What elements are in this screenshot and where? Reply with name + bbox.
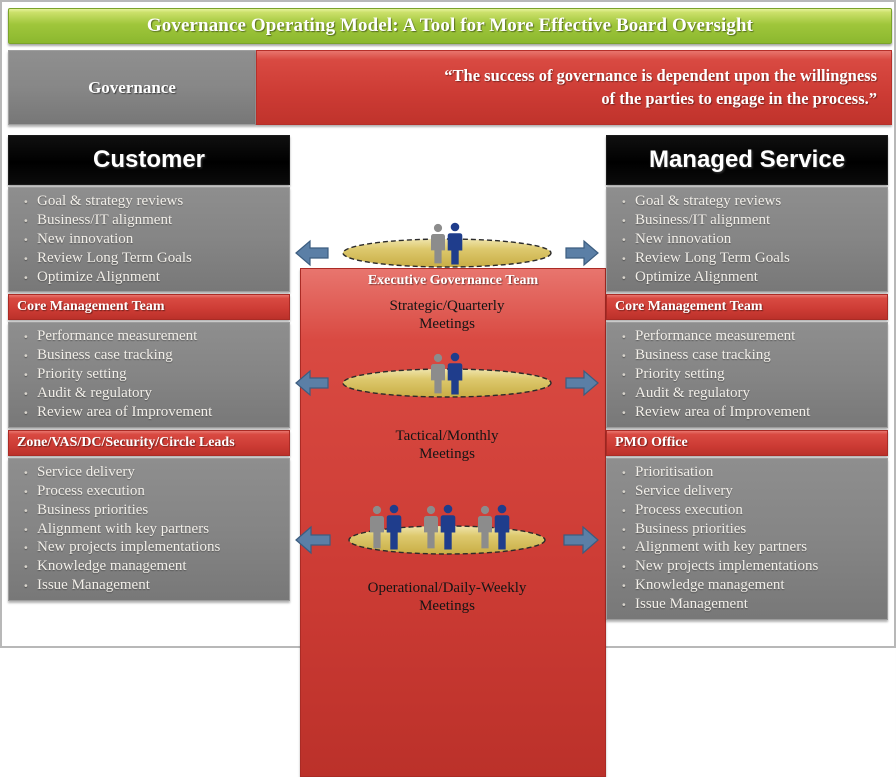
list-item: Knowledge management [613,576,881,595]
list-item: Performance measurement [613,327,881,346]
list-item: Business/IT alignment [613,211,881,230]
list-item: Goal & strategy reviews [613,192,881,211]
meeting-tactical-monthly: Tactical/Monthly Meetings [294,351,600,463]
meeting-operational-daily-weekly: Operational/Daily-Weekly Meetings [294,487,600,615]
list-item: Review Long Term Goals [613,249,881,268]
list-item: Review area of Improvement [15,403,283,422]
section-body-pmo-office: Prioritisation Service delivery Process … [606,458,888,620]
list-item: Business/IT alignment [15,211,283,230]
section-header-pmo-office[interactable]: PMO Office [606,430,888,456]
meeting-stage [294,221,600,296]
column-title-label: Customer [93,146,205,174]
meeting-diagram [294,351,600,421]
left-arrow-icon [296,527,330,553]
meeting-diagram [294,221,600,291]
list-item: Business priorities [613,520,881,539]
meeting-caption: Strategic/Quarterly Meetings [390,298,505,333]
list-item: Issue Management [613,595,881,614]
section-body-core-management-team-customer: Performance measurement Business case tr… [8,322,290,427]
section-body-exec-governance-team-managed-service: Goal & strategy reviews Business/IT alig… [606,187,888,292]
list-item: Priority setting [613,365,881,384]
meeting-stage [294,351,600,426]
meetings-column: Strategic/Quarterly Meetings [294,135,600,644]
list-item: Service delivery [15,463,283,482]
column-customer: Customer Executive Governance Team Goal … [8,135,290,603]
left-arrow-icon [296,371,328,395]
meeting-oval [343,239,551,267]
list-item: Prioritisation [613,463,881,482]
meeting-caption-line-2: Meetings [390,316,505,334]
quote-line-2: of the parties to engage in the process.… [601,89,877,108]
list-item: New innovation [15,230,283,249]
list-item: Audit & regulatory [15,384,283,403]
list-item: Performance measurement [15,327,283,346]
right-arrow-icon [566,241,598,265]
column-managed-service: Managed Service Executive Governance Tea… [606,135,888,622]
list-item: Service delivery [613,482,881,501]
list-item: Review Long Term Goals [15,249,283,268]
list-item: Optimize Alignment [613,268,881,287]
meeting-stage [294,487,600,578]
column-title-label: Managed Service [649,146,845,174]
list-item: Business priorities [15,501,283,520]
quote-box: “The success of governance is dependent … [256,50,892,125]
meeting-caption: Operational/Daily-Weekly Meetings [368,580,527,615]
list-item: Goal & strategy reviews [15,192,283,211]
meeting-caption-line-2: Meetings [395,446,498,464]
column-title-managed-service: Managed Service [606,135,888,185]
meeting-caption: Tactical/Monthly Meetings [395,428,498,463]
list-item: Issue Management [15,576,283,595]
list-item: Audit & regulatory [613,384,881,403]
page-title: Governance Operating Model: A Tool for M… [147,15,753,37]
section-body-core-management-team-managed-service: Performance measurement Business case tr… [606,322,888,427]
meeting-diagram [294,487,600,573]
list-item: Process execution [15,482,283,501]
meeting-oval [343,369,551,397]
section-header-zone-vas-dc-security-circle-leads[interactable]: Zone/VAS/DC/Security/Circle Leads [8,430,290,456]
section-body-zone-vas-dc-security-circle-leads: Service delivery Process execution Busin… [8,458,290,601]
list-item: Knowledge management [15,557,283,576]
list-item: New innovation [613,230,881,249]
meeting-caption-line-2: Meetings [368,598,527,616]
list-item: Business case tracking [15,346,283,365]
left-arrow-icon [296,241,328,265]
meeting-strategic-quarterly: Strategic/Quarterly Meetings [294,221,600,333]
meeting-caption-line-1: Tactical/Monthly [395,428,498,444]
list-item: Business case tracking [613,346,881,365]
governance-label-box: Governance [8,50,256,125]
governance-label: Governance [88,78,176,98]
list-item: New projects implementations [613,557,881,576]
meeting-caption-line-1: Operational/Daily-Weekly [368,580,527,596]
column-title-customer: Customer [8,135,290,185]
section-header-core-management-team-managed-service[interactable]: Core Management Team [606,294,888,320]
quote-line-1: “The success of governance is dependent … [444,66,877,85]
list-item: Optimize Alignment [15,268,283,287]
list-item: Alignment with key partners [15,520,283,539]
list-item: New projects implementations [15,538,283,557]
right-arrow-icon [566,371,598,395]
section-header-core-management-team-customer[interactable]: Core Management Team [8,294,290,320]
slide-title-banner: Governance Operating Model: A Tool for M… [8,8,892,44]
section-body-exec-governance-team-customer: Goal & strategy reviews Business/IT alig… [8,187,290,292]
quote-text: “The success of governance is dependent … [444,65,877,111]
list-item: Process execution [613,501,881,520]
list-item: Alignment with key partners [613,538,881,557]
meeting-caption-line-1: Strategic/Quarterly [390,298,505,314]
right-arrow-icon [564,527,598,553]
slide-canvas: Governance Operating Model: A Tool for M… [0,0,896,648]
list-item: Review area of Improvement [613,403,881,422]
list-item: Priority setting [15,365,283,384]
